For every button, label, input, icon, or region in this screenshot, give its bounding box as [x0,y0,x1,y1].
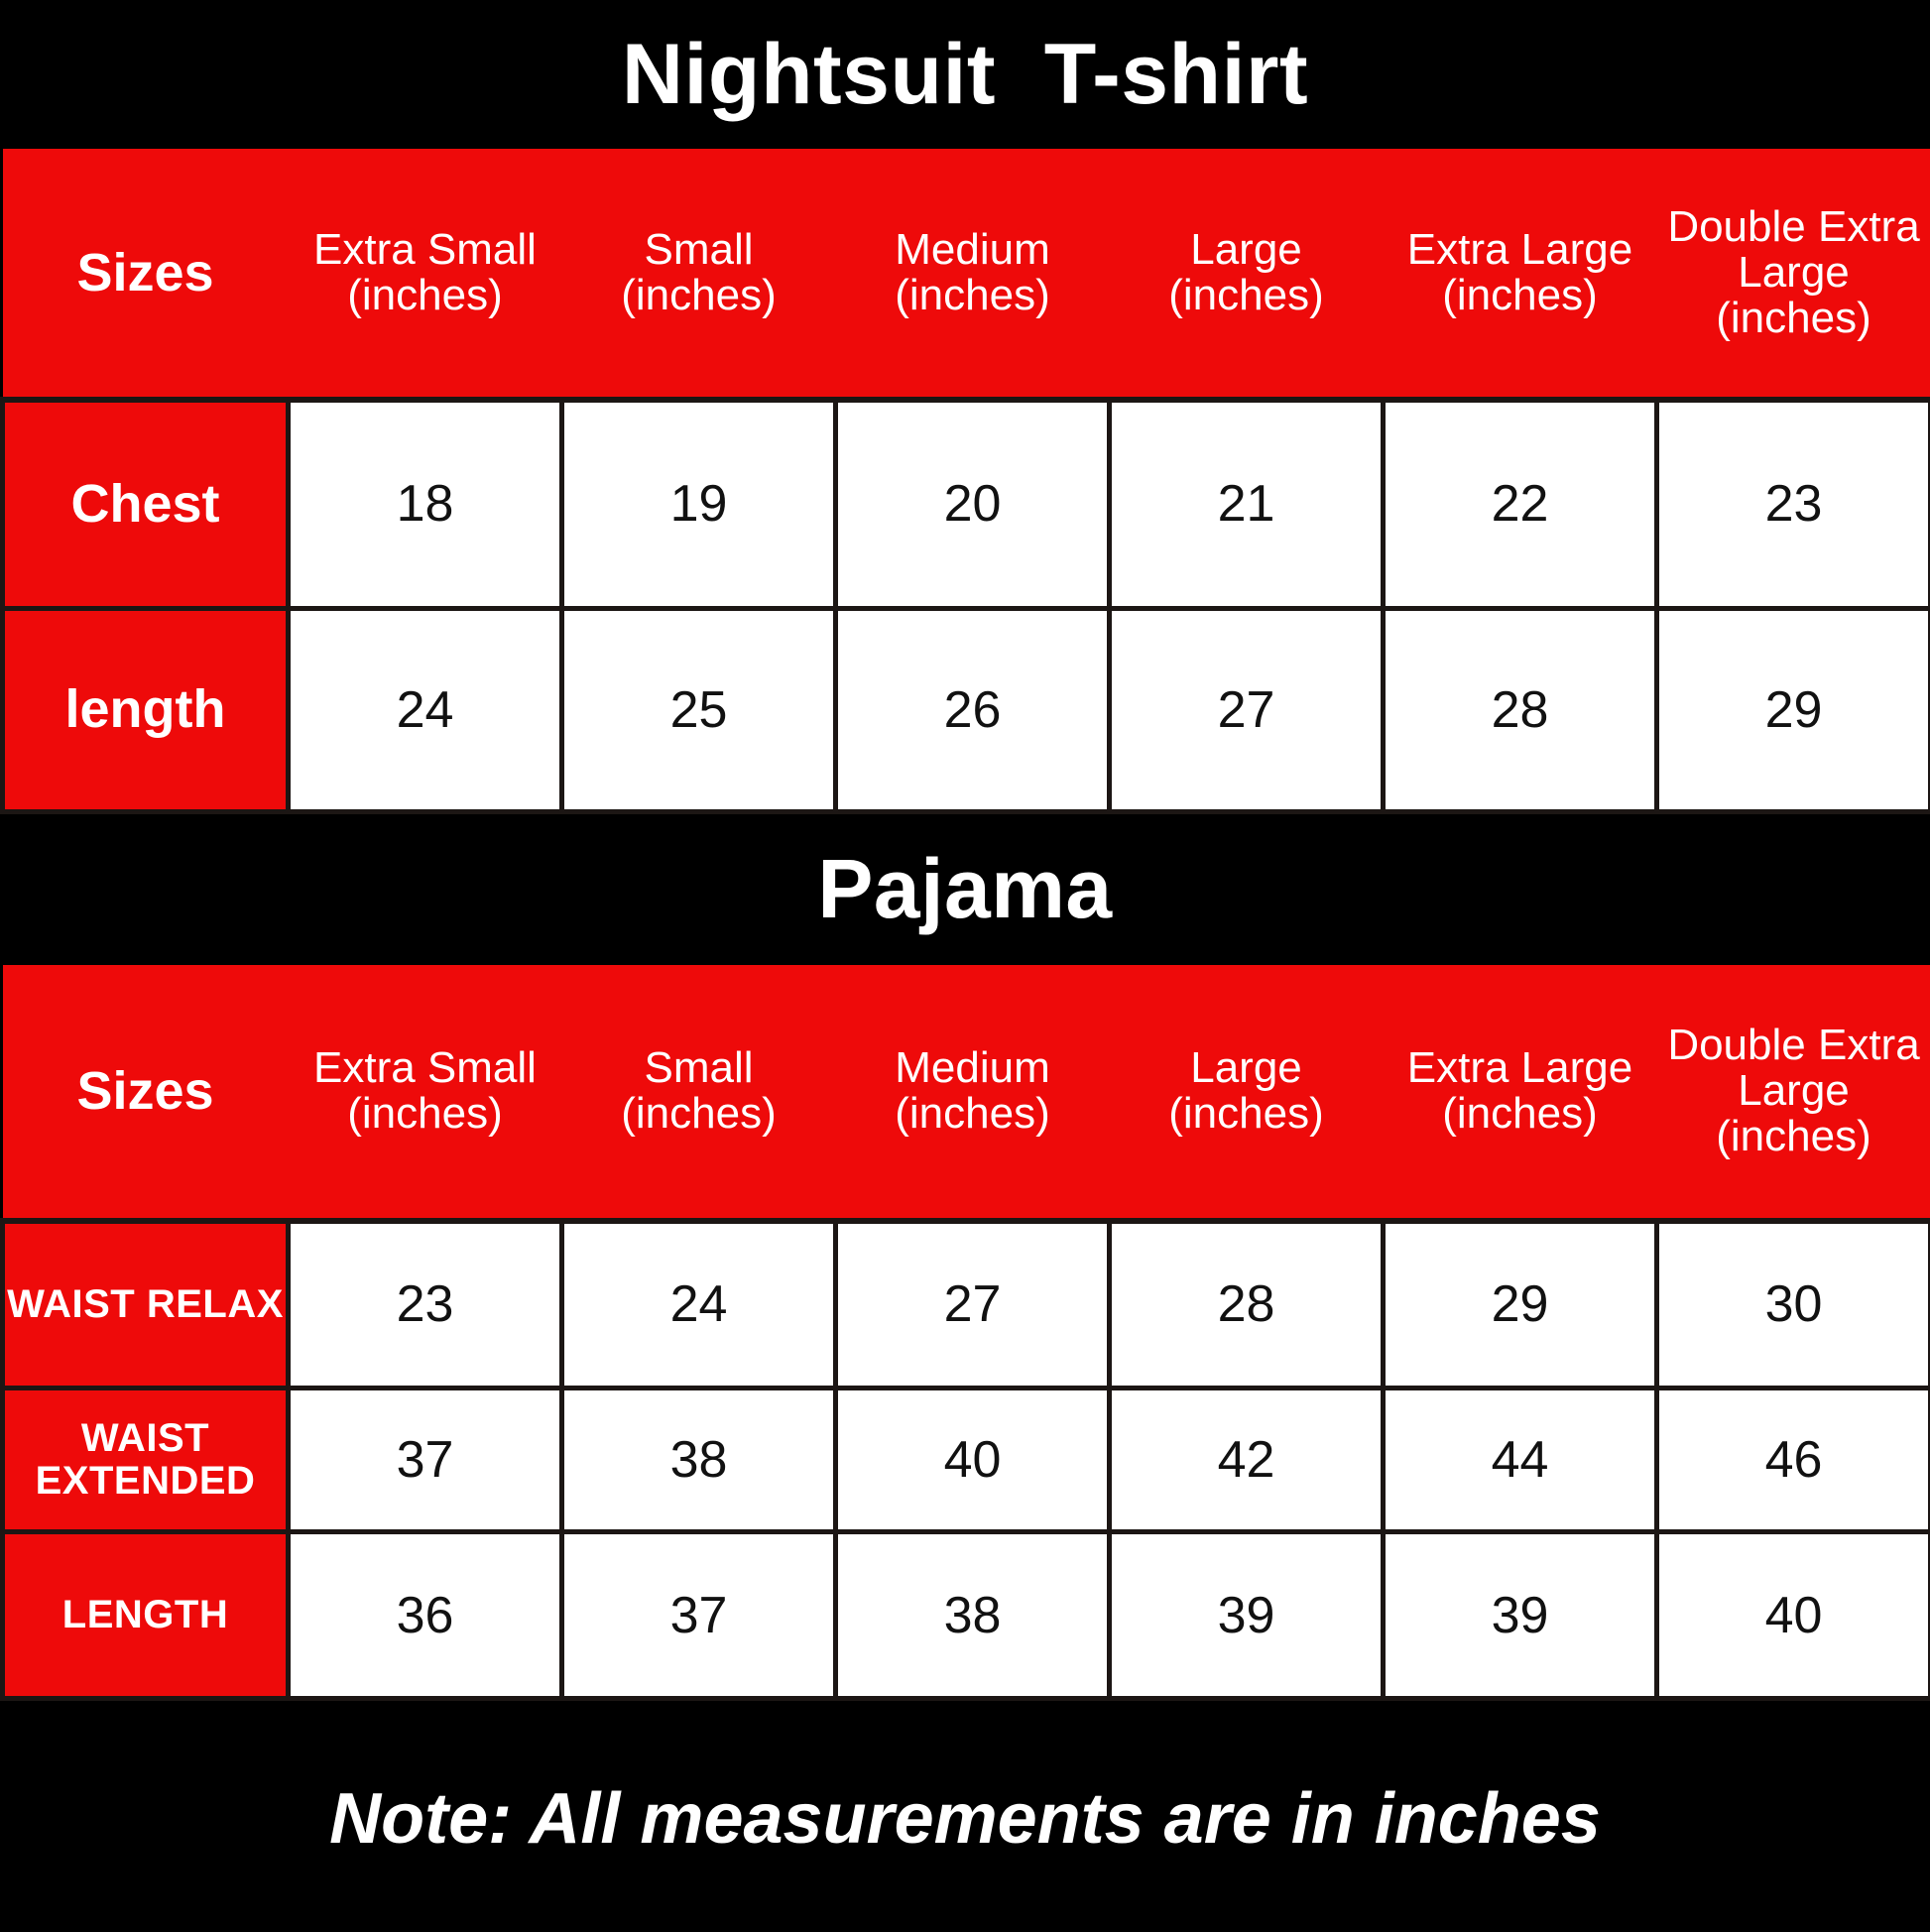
pajama-size-table: Sizes Extra Small (inches) Small (inches… [0,965,1930,1702]
tshirt-header-row: Sizes Extra Small (inches) Small (inches… [3,149,1930,400]
tshirt-chest-xs: 18 [289,400,562,608]
pajama-waist-relax-s: 24 [562,1221,836,1389]
table-row: LENGTH 36 37 38 39 39 40 [3,1532,1930,1699]
tshirt-header-xl: Extra Large (inches) [1384,149,1657,400]
pajama-title-bar: Pajama [0,814,1930,965]
pajama-waist-relax-xs: 23 [289,1221,562,1389]
pajama-waist-extended-m: 40 [836,1389,1110,1532]
pajama-header-l: Large (inches) [1110,965,1384,1221]
tshirt-header-m: Medium (inches) [836,149,1110,400]
tshirt-row-label-chest: Chest [3,400,289,608]
tshirt-header-xxl: Double Extra Large (inches) [1657,149,1930,400]
table-row: WAIST RELAX 23 24 27 28 29 30 [3,1221,1930,1389]
pajama-waist-extended-xl: 44 [1384,1389,1657,1532]
pajama-waist-extended-l: 42 [1110,1389,1384,1532]
pajama-waist-relax-xxl: 30 [1657,1221,1930,1389]
tshirt-chest-xl: 22 [1384,400,1657,608]
pajama-row-label-length: LENGTH [3,1532,289,1699]
pajama-header-row: Sizes Extra Small (inches) Small (inches… [3,965,1930,1221]
tshirt-chest-xxl: 23 [1657,400,1930,608]
pajama-header-sizes: Sizes [3,965,289,1221]
tshirt-length-xxl: 29 [1657,608,1930,811]
pajama-waist-relax-m: 27 [836,1221,1110,1389]
tshirt-size-table: Sizes Extra Small (inches) Small (inches… [0,149,1930,814]
pajama-length-xxl: 40 [1657,1532,1930,1699]
tshirt-length-l: 27 [1110,608,1384,811]
pajama-waist-relax-xl: 29 [1384,1221,1657,1389]
tshirt-header-l: Large (inches) [1110,149,1384,400]
measurement-note: Note: All measurements are in inches [329,1778,1601,1860]
pajama-row-label-waist-relax: WAIST RELAX [3,1221,289,1389]
tshirt-section-title: Nightsuit T-shirt [622,26,1308,124]
pajama-header-s: Small (inches) [562,965,836,1221]
pajama-waist-extended-s: 38 [562,1389,836,1532]
pajama-length-xs: 36 [289,1532,562,1699]
pajama-length-l: 39 [1110,1532,1384,1699]
tshirt-length-s: 25 [562,608,836,811]
tshirt-header-s: Small (inches) [562,149,836,400]
pajama-header-xxl: Double Extra Large (inches) [1657,965,1930,1221]
tshirt-length-m: 26 [836,608,1110,811]
pajama-waist-relax-l: 28 [1110,1221,1384,1389]
tshirt-length-xs: 24 [289,608,562,811]
pajama-length-m: 38 [836,1532,1110,1699]
size-chart-page: Nightsuit T-shirt Sizes Extra Small (inc… [0,0,1930,1932]
table-row: Chest 18 19 20 21 22 23 [3,400,1930,608]
table-row: length 24 25 26 27 28 29 [3,608,1930,811]
pajama-section-title: Pajama [817,841,1112,937]
table-row: WAIST EXTENDED 37 38 40 42 44 46 [3,1389,1930,1532]
tshirt-chest-s: 19 [562,400,836,608]
tshirt-chest-l: 21 [1110,400,1384,608]
note-bar: Note: All measurements are in inches [0,1701,1930,1932]
pajama-header-xl: Extra Large (inches) [1384,965,1657,1221]
tshirt-length-xl: 28 [1384,608,1657,811]
pajama-header-xs: Extra Small (inches) [289,965,562,1221]
pajama-length-s: 37 [562,1532,836,1699]
pajama-waist-extended-xs: 37 [289,1389,562,1532]
tshirt-header-sizes: Sizes [3,149,289,400]
tshirt-row-label-length: length [3,608,289,811]
tshirt-title-bar: Nightsuit T-shirt [0,0,1930,149]
tshirt-header-xs: Extra Small (inches) [289,149,562,400]
pajama-row-label-waist-extended: WAIST EXTENDED [3,1389,289,1532]
tshirt-chest-m: 20 [836,400,1110,608]
pajama-waist-extended-xxl: 46 [1657,1389,1930,1532]
pajama-header-m: Medium (inches) [836,965,1110,1221]
pajama-length-xl: 39 [1384,1532,1657,1699]
